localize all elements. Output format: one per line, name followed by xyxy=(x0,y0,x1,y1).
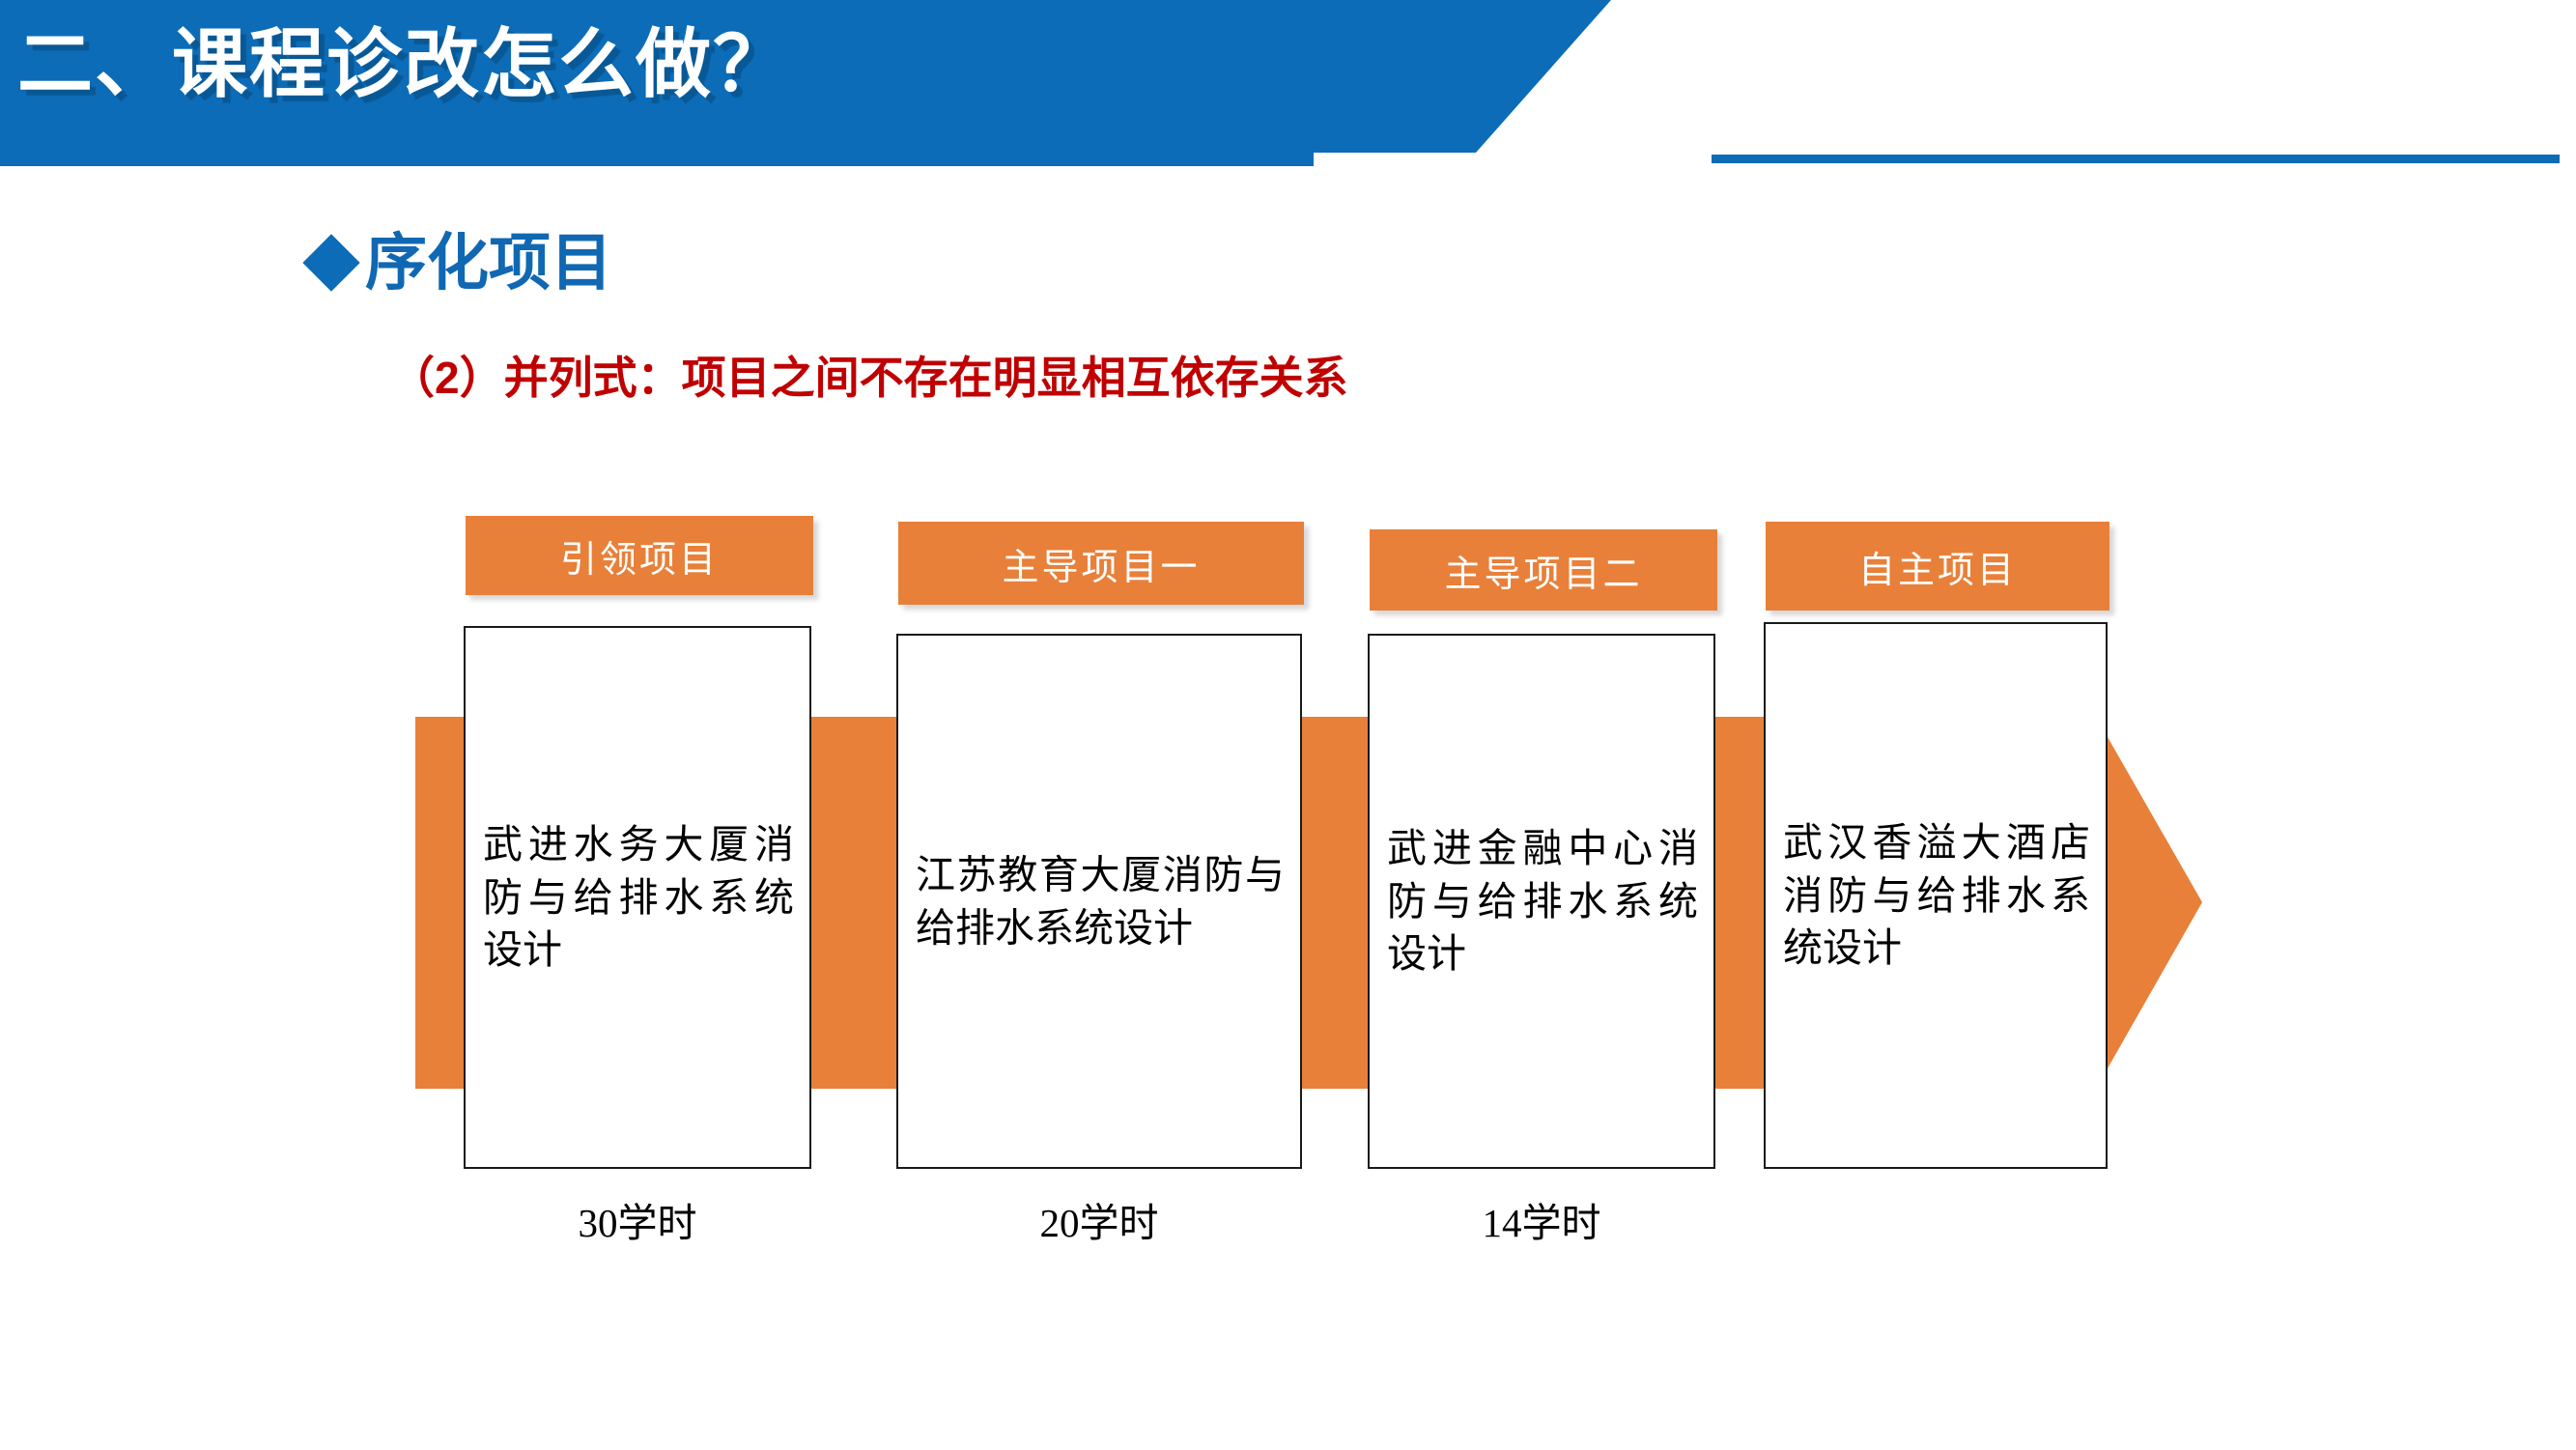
project-label-4[interactable]: 自主项目 xyxy=(1766,522,2109,611)
project-card-4[interactable]: 武汉香溢大酒店消防与给排水系统设计 xyxy=(1764,622,2108,1169)
project-hours-1: 30学时 xyxy=(464,1190,811,1248)
header-rule xyxy=(1712,155,2560,163)
header-banner: 二、课程诊改怎么做？ xyxy=(0,0,1611,153)
header-underbar xyxy=(0,153,1314,166)
project-card-3[interactable]: 武进金融中心消防与给排水系统设计 xyxy=(1368,634,1715,1169)
project-hours-3: 14学时 xyxy=(1368,1190,1715,1248)
project-card-text-1: 武进水务大厦消防与给排水系统设计 xyxy=(483,818,794,977)
project-hours-2: 20学时 xyxy=(896,1190,1302,1248)
section-heading: 序化项目 xyxy=(311,232,612,294)
slide-canvas: 二、课程诊改怎么做？ 序化项目 （2）并列式：项目之间不存在明显相互依存关系 引… xyxy=(0,0,2576,1450)
section-heading-label: 序化项目 xyxy=(365,232,612,294)
project-card-text-3: 武进金融中心消防与给排水系统设计 xyxy=(1387,822,1698,981)
project-columns: 引领项目 武进水务大厦消防与给排水系统设计 30学时 主导项目一 江苏教育大厦消… xyxy=(0,0,2576,1450)
project-card-text-4: 武汉香溢大酒店消防与给排水系统设计 xyxy=(1783,816,2090,975)
project-label-1[interactable]: 引领项目 xyxy=(466,516,813,595)
page-title: 二、课程诊改怎么做？ xyxy=(17,14,790,114)
project-label-3[interactable]: 主导项目二 xyxy=(1370,529,1717,611)
section-subheading: （2）并列式：项目之间不存在明显相互依存关系 xyxy=(390,353,1348,404)
project-label-2[interactable]: 主导项目一 xyxy=(898,522,1304,605)
project-card-2[interactable]: 江苏教育大厦消防与给排水系统设计 xyxy=(896,634,1302,1169)
diamond-icon xyxy=(302,234,359,291)
project-card-1[interactable]: 武进水务大厦消防与给排水系统设计 xyxy=(464,626,811,1169)
project-card-text-2: 江苏教育大厦消防与给排水系统设计 xyxy=(916,848,1285,953)
